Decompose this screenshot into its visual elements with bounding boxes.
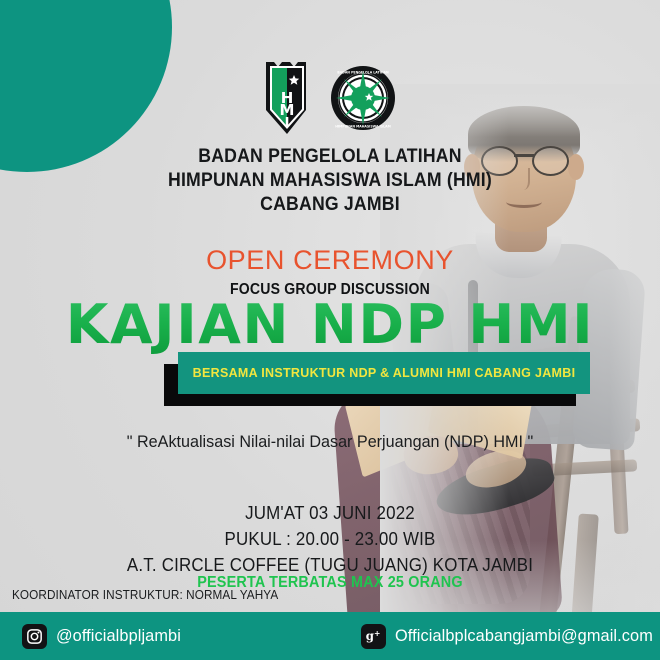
hmi-shield-logo: H M I: [264, 60, 310, 136]
banner-body: BERSAMA INSTRUKTUR NDP & ALUMNI HMI CABA…: [178, 352, 590, 394]
svg-text:I: I: [285, 116, 290, 131]
coordinator-note: KOORDINATOR INSTRUKTUR: NORMAL YAHYA: [12, 588, 278, 602]
svg-text:HIMPUNAN MAHASISWA ISLAM: HIMPUNAN MAHASISWA ISLAM: [335, 125, 391, 129]
footer-contact-bar: @officialbpljambi g + Officialbplcabangj…: [0, 612, 660, 660]
event-poster: H M I: [0, 0, 660, 660]
email-address[interactable]: Officialbplcabangjambi@gmail.com: [395, 626, 653, 646]
google-plus-icon[interactable]: g +: [361, 624, 386, 649]
instagram-icon[interactable]: [22, 624, 47, 649]
instagram-handle[interactable]: @officialbpljambi: [56, 626, 181, 646]
svg-text:g: g: [365, 629, 373, 643]
banner-label: BERSAMA INSTRUKTUR NDP & ALUMNI HMI CABA…: [183, 365, 586, 381]
org-line-1: BADAN PENGELOLA LATIHAN: [23, 145, 637, 169]
org-line-2: HIMPUNAN MAHASISWA ISLAM (HMI): [23, 169, 637, 193]
org-line-3: CABANG JAMBI: [23, 193, 637, 217]
email-contact[interactable]: g + Officialbplcabangjambi@gmail.com: [361, 624, 660, 649]
organisation-heading: BADAN PENGELOLA LATIHAN HIMPUNAN MAHASIS…: [23, 145, 637, 217]
speaker-banner: BERSAMA INSTRUKTUR NDP & ALUMNI HMI CABA…: [178, 352, 590, 394]
instagram-contact[interactable]: @officialbpljambi: [22, 624, 186, 649]
theme-quote: " ReAktualisasi Nilai-nilai Dasar Perjua…: [17, 432, 644, 452]
svg-text:BADAN PENGELOLA LATIHAN: BADAN PENGELOLA LATIHAN: [337, 71, 389, 75]
bpl-circle-emblem: BADAN PENGELOLA LATIHAN HIMPUNAN MAHASIS…: [330, 65, 396, 131]
event-details: JUM'AT 03 JUNI 2022 PUKUL : 20.00 - 23.0…: [20, 500, 640, 578]
page-title: KAJIAN NDP HMI: [0, 296, 660, 354]
logo-row: H M I: [0, 60, 660, 136]
event-time: PUKUL : 20.00 - 23.00 WIB: [20, 526, 640, 552]
svg-text:+: +: [374, 629, 380, 638]
event-date: JUM'AT 03 JUNI 2022: [20, 500, 640, 526]
open-ceremony-label: OPEN CEREMONY: [0, 245, 660, 276]
